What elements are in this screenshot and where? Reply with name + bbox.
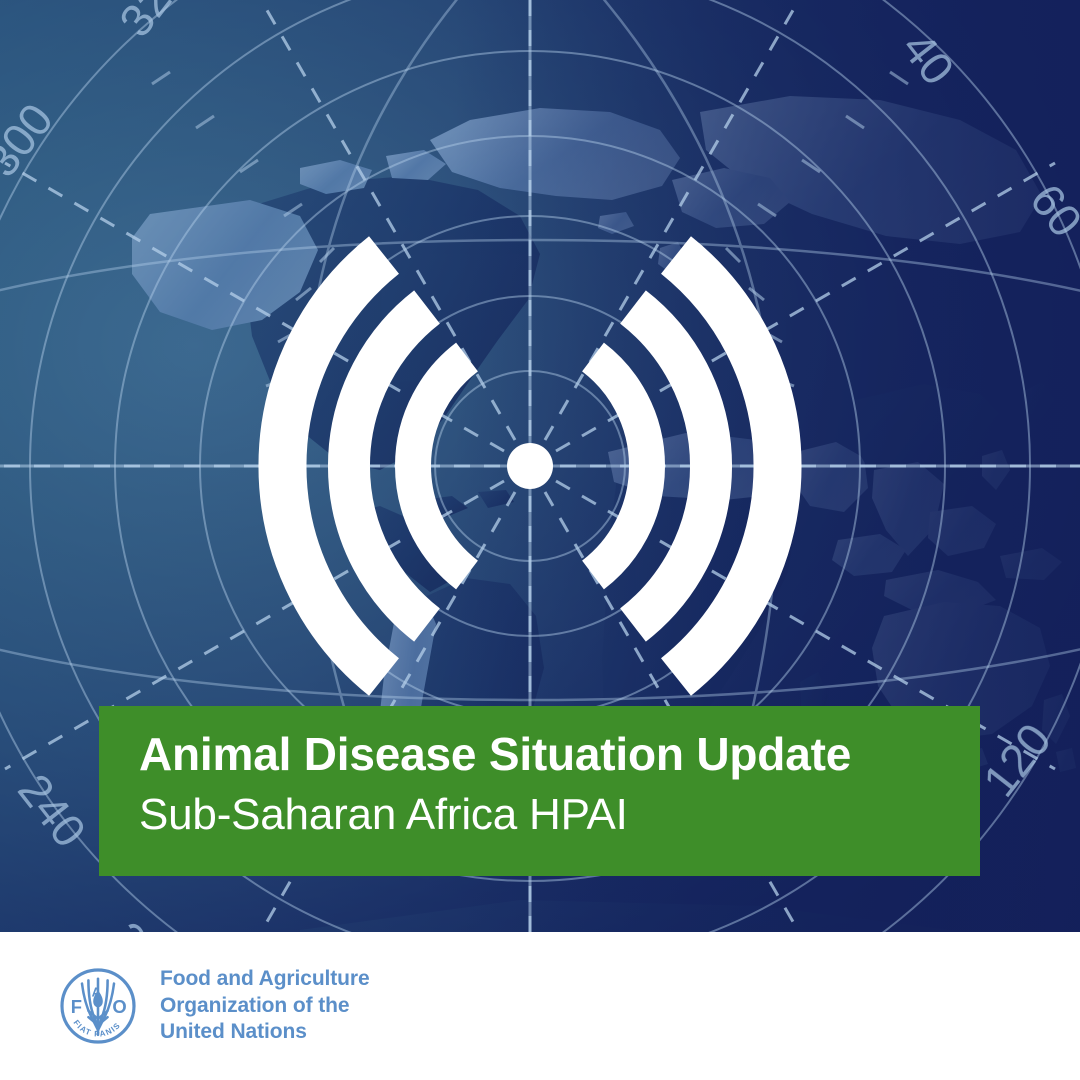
- broadcast-signal-icon: [0, 0, 1080, 1080]
- background-layer: 320 300 240 220 120 60 40: [0, 0, 1080, 1080]
- poster-canvas: 320 300 240 220 120 60 40: [0, 0, 1080, 1080]
- fao-letter-a: A: [92, 984, 101, 999]
- signal-origin-dot: [507, 443, 553, 489]
- fao-wordmark: Food and Agriculture Organization of the…: [160, 966, 370, 1047]
- fao-letter-o: O: [112, 996, 126, 1017]
- fao-wordmark-line-3: United Nations: [160, 1019, 370, 1046]
- fao-emblem-icon: F O A FIAT PANIS: [58, 966, 138, 1046]
- title-banner: Animal Disease Situation Update Sub-Saha…: [99, 706, 980, 876]
- fao-wordmark-line-2: Organization of the: [160, 993, 370, 1020]
- banner-subtitle: Sub-Saharan Africa HPAI: [139, 790, 940, 839]
- fao-wordmark-line-1: Food and Agriculture: [160, 966, 370, 993]
- footer-bar: F O A FIAT PANIS Food and Agriculture Or…: [0, 932, 1080, 1080]
- fao-letter-f: F: [71, 996, 82, 1017]
- banner-title: Animal Disease Situation Update: [139, 730, 940, 780]
